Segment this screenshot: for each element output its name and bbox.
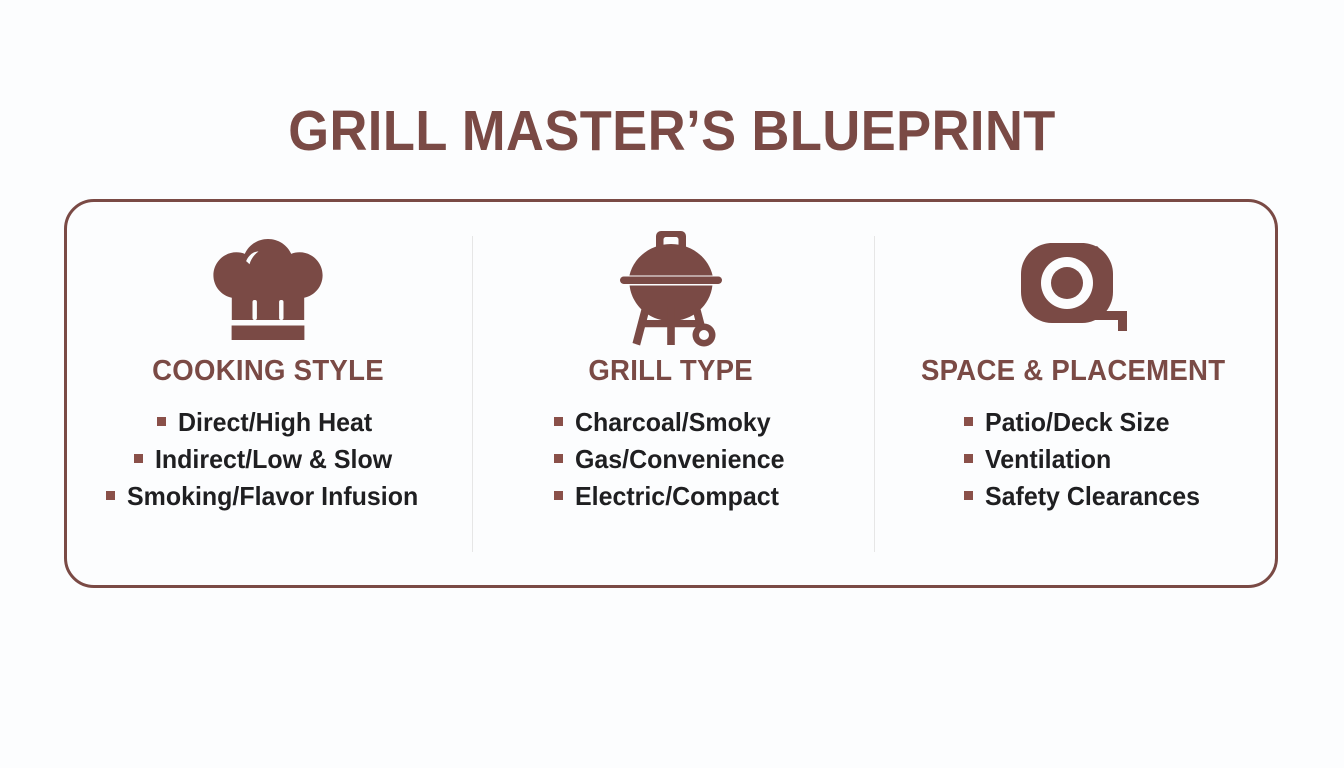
list-item-label: Smoking/Flavor Infusion <box>127 478 418 515</box>
list-item-label: Charcoal/Smoky <box>575 404 771 441</box>
column-space-placement: SPACE & PLACEMENT Patio/Deck Size Ventil… <box>872 202 1275 585</box>
list-item: Safety Clearances <box>964 478 1209 515</box>
content-card: COOKING STYLE Direct/High Heat Indirect/… <box>64 199 1278 588</box>
page-title: GRILL MASTER’S BLUEPRINT <box>54 99 1290 163</box>
list-item: Patio/Deck Size <box>964 404 1209 441</box>
list-item: Electric/Compact <box>554 478 793 515</box>
bullet-square-icon <box>964 454 973 463</box>
list-item: Charcoal/Smoky <box>554 404 793 441</box>
column-heading: GRILL TYPE <box>589 354 754 388</box>
column-heading: COOKING STYLE <box>152 354 384 388</box>
bullet-square-icon <box>554 417 563 426</box>
bullet-square-icon <box>964 417 973 426</box>
bullet-list: Direct/High Heat Indirect/Low & Slow Smo… <box>106 404 430 515</box>
bullet-square-icon <box>157 417 166 426</box>
list-item-label: Indirect/Low & Slow <box>155 441 392 478</box>
bullet-list: Charcoal/Smoky Gas/Convenience Electric/… <box>554 404 793 515</box>
bullet-square-icon <box>106 491 115 500</box>
chef-hat-icon <box>209 228 327 348</box>
list-item-label: Safety Clearances <box>985 478 1200 515</box>
column-cooking-style: COOKING STYLE Direct/High Heat Indirect/… <box>67 202 470 585</box>
column-heading: SPACE & PLACEMENT <box>921 354 1225 388</box>
bullet-square-icon <box>964 491 973 500</box>
columns-container: COOKING STYLE Direct/High Heat Indirect/… <box>67 202 1275 585</box>
list-item: Smoking/Flavor Infusion <box>106 478 430 515</box>
list-item: Direct/High Heat <box>106 404 430 441</box>
list-item: Ventilation <box>964 441 1209 478</box>
bullet-list: Patio/Deck Size Ventilation Safety Clear… <box>964 404 1209 515</box>
bullet-square-icon <box>554 454 563 463</box>
tape-measure-icon <box>1011 228 1137 348</box>
list-item-label: Gas/Convenience <box>575 441 784 478</box>
list-item: Gas/Convenience <box>554 441 793 478</box>
list-item: Indirect/Low & Slow <box>106 441 430 478</box>
infographic-canvas: GRILL MASTER’S BLUEPRINT <box>0 0 1344 768</box>
bullet-square-icon <box>554 491 563 500</box>
list-item-label: Electric/Compact <box>575 478 779 515</box>
list-item-label: Patio/Deck Size <box>985 404 1170 441</box>
charcoal-grill-icon <box>612 228 730 348</box>
list-item-label: Ventilation <box>985 441 1111 478</box>
list-item-label: Direct/High Heat <box>178 404 372 441</box>
bullet-square-icon <box>134 454 143 463</box>
column-grill-type: GRILL TYPE Charcoal/Smoky Gas/Convenienc… <box>470 202 873 585</box>
